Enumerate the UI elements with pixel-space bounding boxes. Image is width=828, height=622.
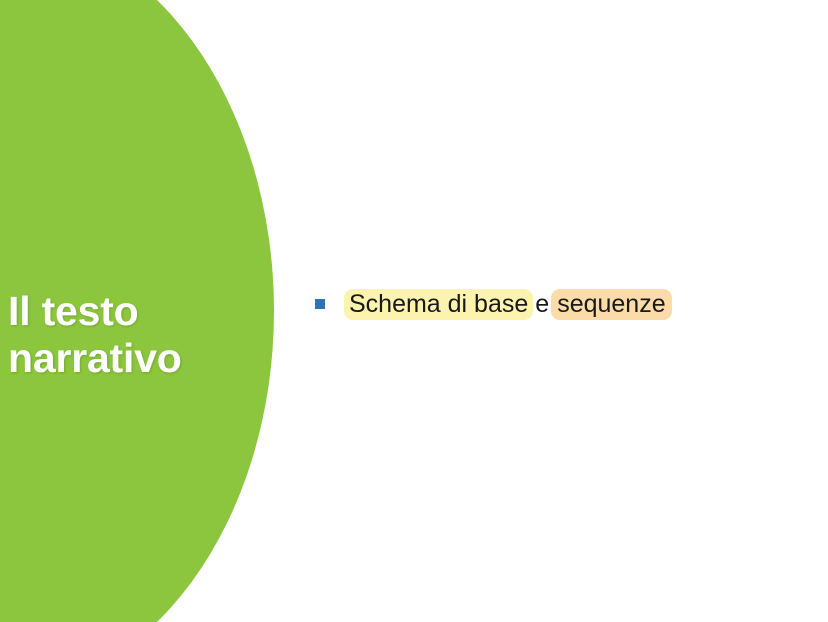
title-line-2: narrativo (8, 335, 278, 382)
square-bullet-icon (315, 299, 325, 309)
slide-title: Il testo narrativo (8, 288, 278, 382)
list-item: Schema di baseesequenze (315, 288, 805, 321)
title-line-1: Il testo (8, 288, 278, 335)
highlight-orange-segment: sequenze (551, 289, 671, 320)
highlight-yellow-segment: Schema di base (344, 289, 533, 320)
plain-segment: e (533, 290, 551, 318)
slide-body: Schema di baseesequenze (315, 288, 805, 321)
bullet-text: Schema di baseesequenze (344, 288, 672, 321)
slide-canvas: Il testo narrativo Schema di baseesequen… (0, 0, 828, 622)
